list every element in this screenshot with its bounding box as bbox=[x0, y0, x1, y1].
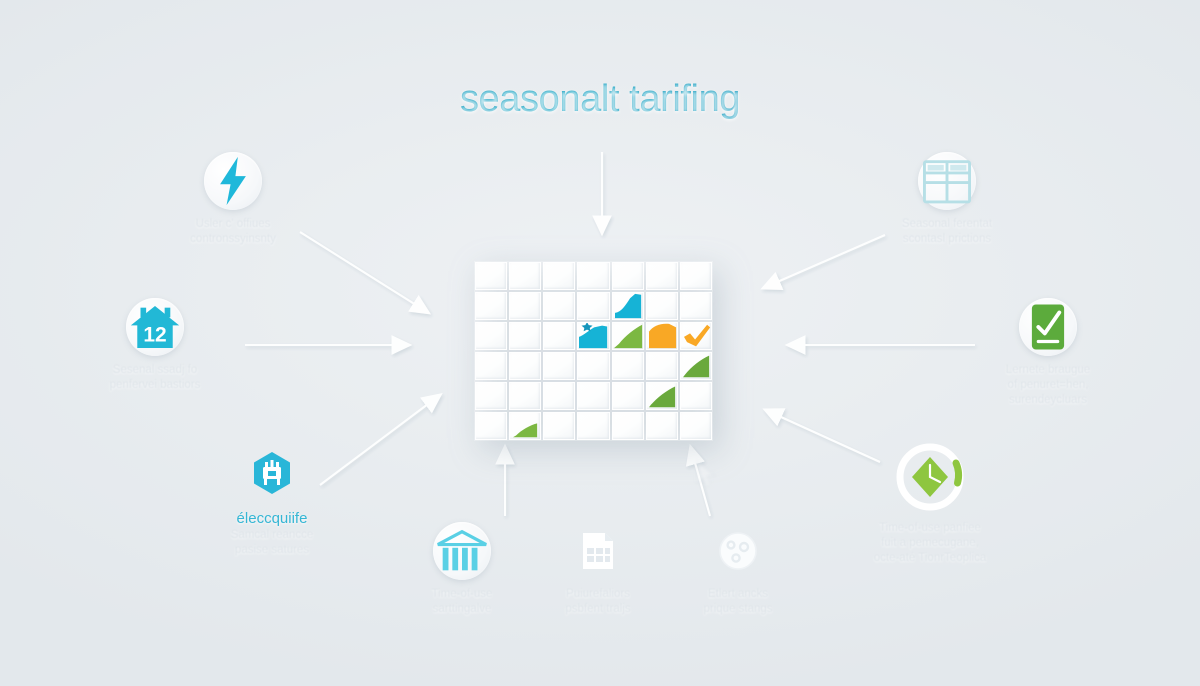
grid-cell[interactable] bbox=[577, 382, 609, 410]
grid-cell[interactable] bbox=[543, 382, 575, 410]
spreadsheet-document-icon bbox=[569, 522, 627, 580]
grid-cell[interactable] bbox=[509, 322, 541, 350]
grid-cell[interactable] bbox=[475, 412, 507, 440]
grid-cell-cyan-area[interactable] bbox=[612, 292, 644, 320]
grid-cell[interactable] bbox=[646, 412, 678, 440]
grid-cell[interactable] bbox=[680, 292, 712, 320]
grid-cell[interactable] bbox=[543, 322, 575, 350]
node-top-right-label: Seasonal ferentat scontasl prictions bbox=[852, 217, 1042, 247]
grid-cell[interactable] bbox=[646, 292, 678, 320]
grid-cell[interactable] bbox=[577, 292, 609, 320]
grid-cell[interactable] bbox=[475, 352, 507, 380]
grid-cell-orange-area[interactable] bbox=[646, 322, 678, 350]
node-top-left-label: Usler c' offiues contronssyinsnty bbox=[138, 217, 328, 247]
grid-cell[interactable] bbox=[475, 382, 507, 410]
node-left[interactable]: 12 Sesenal ssadj fo penfervei bastiors bbox=[60, 298, 250, 393]
node-bottom-right-label: Time-of-use panfiee fuit a pemecugane, o… bbox=[835, 521, 1025, 566]
mouse-cursor-icon bbox=[695, 460, 717, 490]
bank-columns-icon bbox=[433, 522, 491, 580]
grid-cell[interactable] bbox=[612, 382, 644, 410]
grid-cell[interactable] bbox=[577, 412, 609, 440]
robot-hexagon-icon bbox=[243, 444, 301, 502]
grid-cell-green-area[interactable] bbox=[612, 322, 644, 350]
page-title: seasonalt tarifing bbox=[0, 78, 1200, 121]
node-bottom-left-sublabel: Samcal reancce pasise satures bbox=[177, 528, 367, 558]
grid-cell[interactable] bbox=[509, 382, 541, 410]
grid-cell-green-area[interactable] bbox=[509, 412, 541, 440]
grid-cell[interactable] bbox=[509, 262, 541, 290]
grid-cell[interactable] bbox=[543, 292, 575, 320]
grid-cell-green-area[interactable] bbox=[646, 382, 678, 410]
grid-cell[interactable] bbox=[475, 262, 507, 290]
node-top-right[interactable]: Seasonal ferentat scontasl prictions bbox=[852, 152, 1042, 247]
grid-cell[interactable] bbox=[612, 412, 644, 440]
checklist-document-icon bbox=[1019, 298, 1077, 356]
house-badge-number: 12 bbox=[143, 324, 166, 347]
node-bottom-left-label: éleccquiife bbox=[177, 509, 367, 528]
grid-cell[interactable] bbox=[680, 262, 712, 290]
grid-cell[interactable] bbox=[680, 382, 712, 410]
grid-cell[interactable] bbox=[680, 412, 712, 440]
grid-cell[interactable] bbox=[475, 322, 507, 350]
grid-cell[interactable] bbox=[509, 292, 541, 320]
grid-cell[interactable] bbox=[543, 412, 575, 440]
grid-cell[interactable] bbox=[543, 352, 575, 380]
grid-cell[interactable] bbox=[612, 352, 644, 380]
table-grid-icon bbox=[918, 152, 976, 210]
grid-cell[interactable] bbox=[646, 262, 678, 290]
node-right-label: Lernete braugue of penuret=hen, surendey… bbox=[953, 363, 1143, 408]
grid-cell[interactable] bbox=[543, 262, 575, 290]
grid-cell[interactable] bbox=[612, 262, 644, 290]
lightning-bolt-icon bbox=[204, 152, 262, 210]
clock-diamond-ring-icon bbox=[893, 440, 967, 514]
node-top-left[interactable]: Usler c' offiues contronssyinsnty bbox=[138, 152, 328, 247]
node-bottom-3[interactable]: Etlert ancks prique stangs bbox=[643, 522, 833, 617]
grid-cell[interactable] bbox=[577, 352, 609, 380]
grid-cell-green-area[interactable] bbox=[680, 352, 712, 380]
seasonal-tariff-grid[interactable] bbox=[474, 261, 713, 441]
node-left-label: Sesenal ssadj fo penfervei bastiors bbox=[60, 363, 250, 393]
diagram-canvas: seasonalt tarifing bbox=[0, 0, 1200, 686]
node-bottom-left[interactable]: éleccquiife Samcal reancce pasise sature… bbox=[177, 444, 367, 558]
node-bottom-right[interactable]: Time-of-use panfiee fuit a pemecugane, o… bbox=[835, 440, 1025, 566]
grid-cell[interactable] bbox=[475, 292, 507, 320]
node-right[interactable]: Lernete braugue of penuret=hen, surendey… bbox=[953, 298, 1143, 408]
grid-cell[interactable] bbox=[646, 352, 678, 380]
grid-cell[interactable] bbox=[577, 262, 609, 290]
house-12-icon: 12 bbox=[126, 298, 184, 356]
grid-cell[interactable] bbox=[509, 352, 541, 380]
grid-cell-cyan-area-star[interactable] bbox=[577, 322, 609, 350]
node-bottom-3-label: Etlert ancks prique stangs bbox=[643, 587, 833, 617]
grid-cell-orange-check[interactable] bbox=[680, 322, 712, 350]
gears-circle-icon bbox=[709, 522, 767, 580]
